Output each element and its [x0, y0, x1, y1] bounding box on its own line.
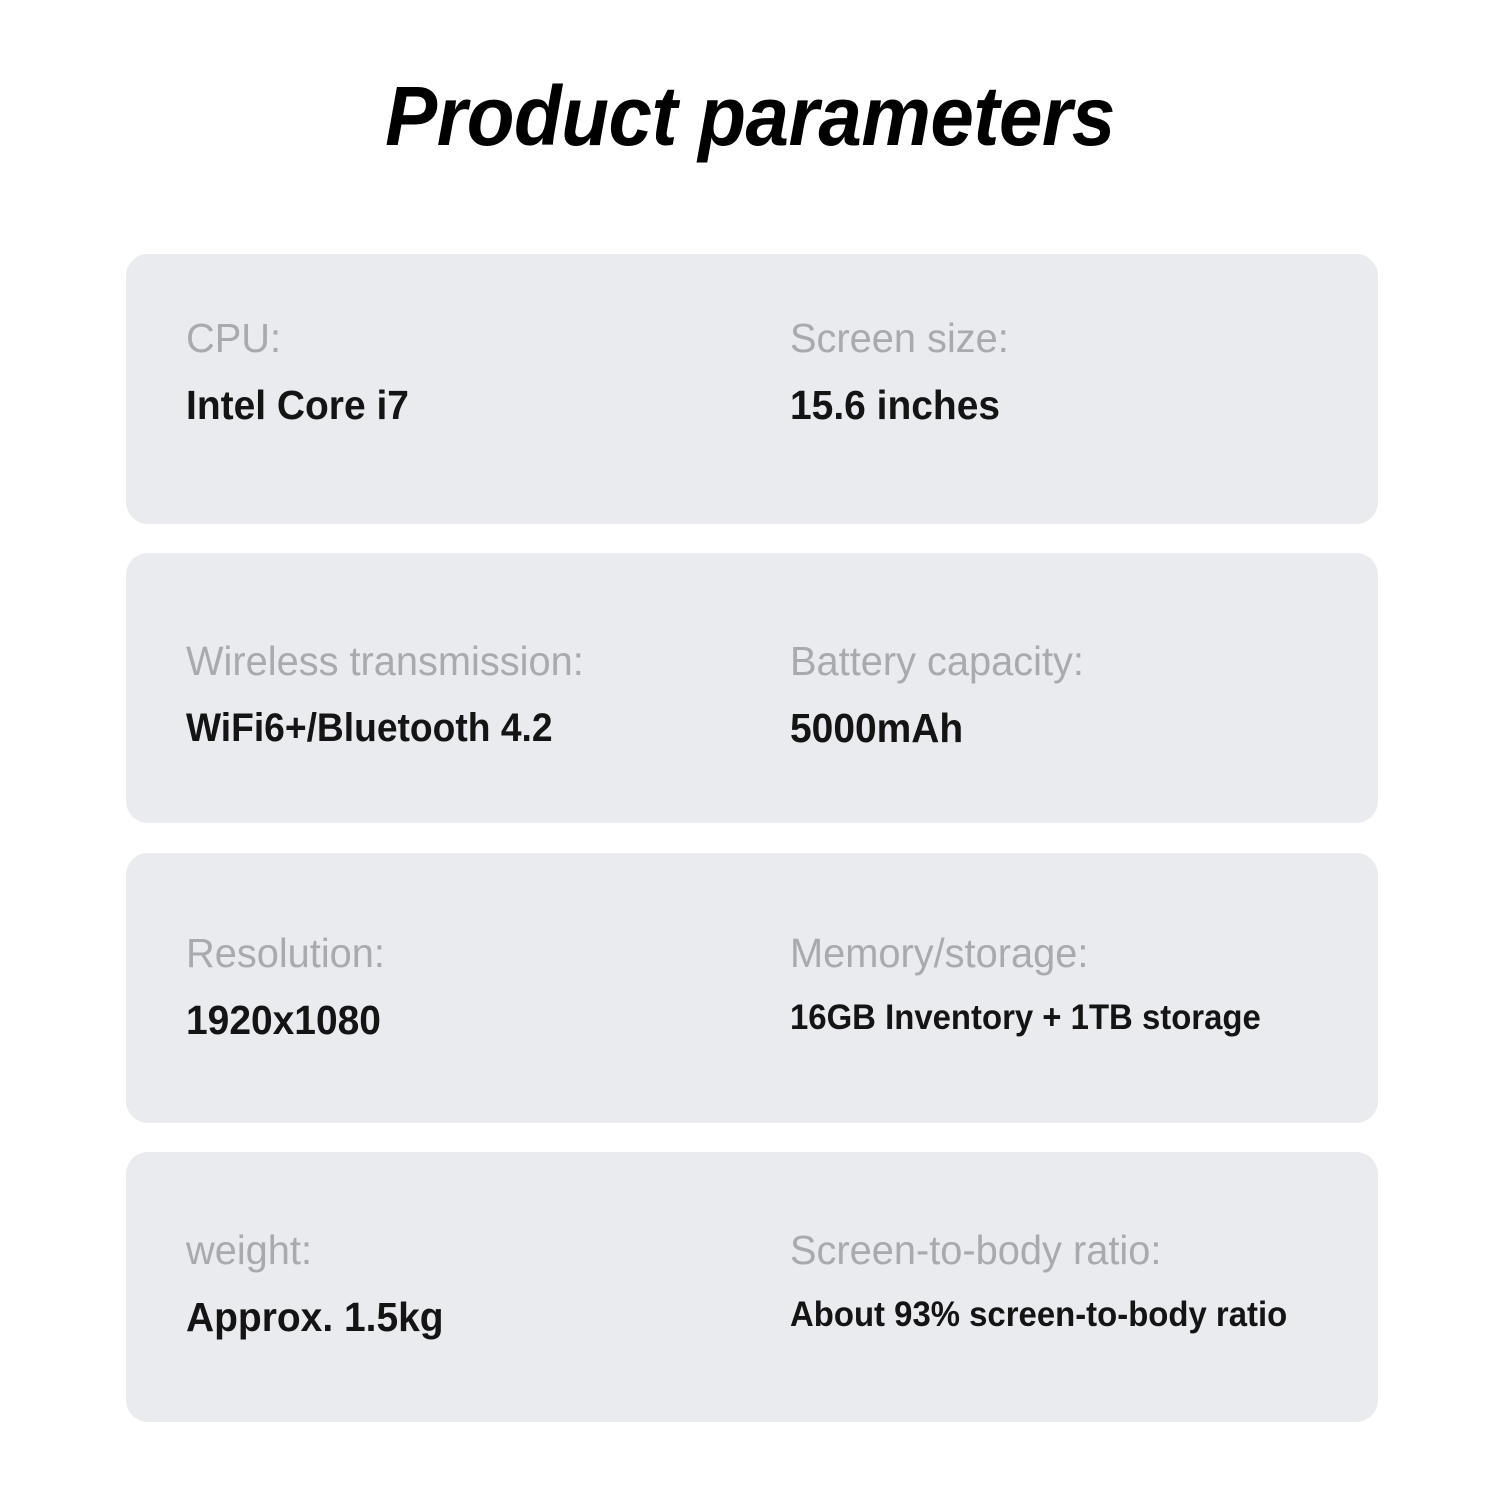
spec-label: Screen-to-body ratio: — [790, 1230, 1333, 1271]
spec-value: 16GB Inventory + 1TB storage — [790, 1000, 1316, 1035]
spec-value: 1920x1080 — [186, 1000, 756, 1041]
spec-card: weight: Approx. 1.5kg Screen-to-body rat… — [126, 1152, 1378, 1422]
spec-cell: Wireless transmission: WiFi6+/Bluetooth … — [186, 641, 786, 748]
spec-label: CPU: — [186, 318, 768, 359]
spec-value: About 93% screen-to-body ratio — [790, 1297, 1316, 1332]
page-title: Product parameters — [53, 74, 1448, 158]
spec-label: weight: — [186, 1230, 768, 1271]
spec-label: Screen size: — [790, 318, 1333, 359]
spec-cell: Memory/storage: 16GB Inventory + 1TB sto… — [790, 933, 1350, 1035]
spec-value: 15.6 inches — [790, 385, 1322, 426]
spec-cell: CPU: Intel Core i7 — [186, 318, 786, 426]
spec-value: Intel Core i7 — [186, 385, 756, 426]
spec-value: WiFi6+/Bluetooth 4.2 — [186, 708, 744, 748]
spec-value: Approx. 1.5kg — [186, 1297, 756, 1338]
spec-card: CPU: Intel Core i7 Screen size: 15.6 inc… — [126, 254, 1378, 524]
spec-cell: Screen size: 15.6 inches — [790, 318, 1350, 426]
spec-cell: Resolution: 1920x1080 — [186, 933, 786, 1041]
spec-label: Wireless transmission: — [186, 641, 768, 682]
spec-card: Wireless transmission: WiFi6+/Bluetooth … — [126, 553, 1378, 823]
spec-label: Resolution: — [186, 933, 768, 974]
product-parameters-page: Product parameters CPU: Intel Core i7 Sc… — [0, 0, 1500, 1500]
spec-label: Memory/storage: — [790, 933, 1333, 974]
spec-value: 5000mAh — [790, 708, 1322, 749]
spec-cell: Battery capacity: 5000mAh — [790, 641, 1350, 749]
spec-cell: weight: Approx. 1.5kg — [186, 1230, 786, 1338]
spec-label: Battery capacity: — [790, 641, 1333, 682]
spec-card: Resolution: 1920x1080 Memory/storage: 16… — [126, 853, 1378, 1123]
spec-cell: Screen-to-body ratio: About 93% screen-t… — [790, 1230, 1350, 1332]
